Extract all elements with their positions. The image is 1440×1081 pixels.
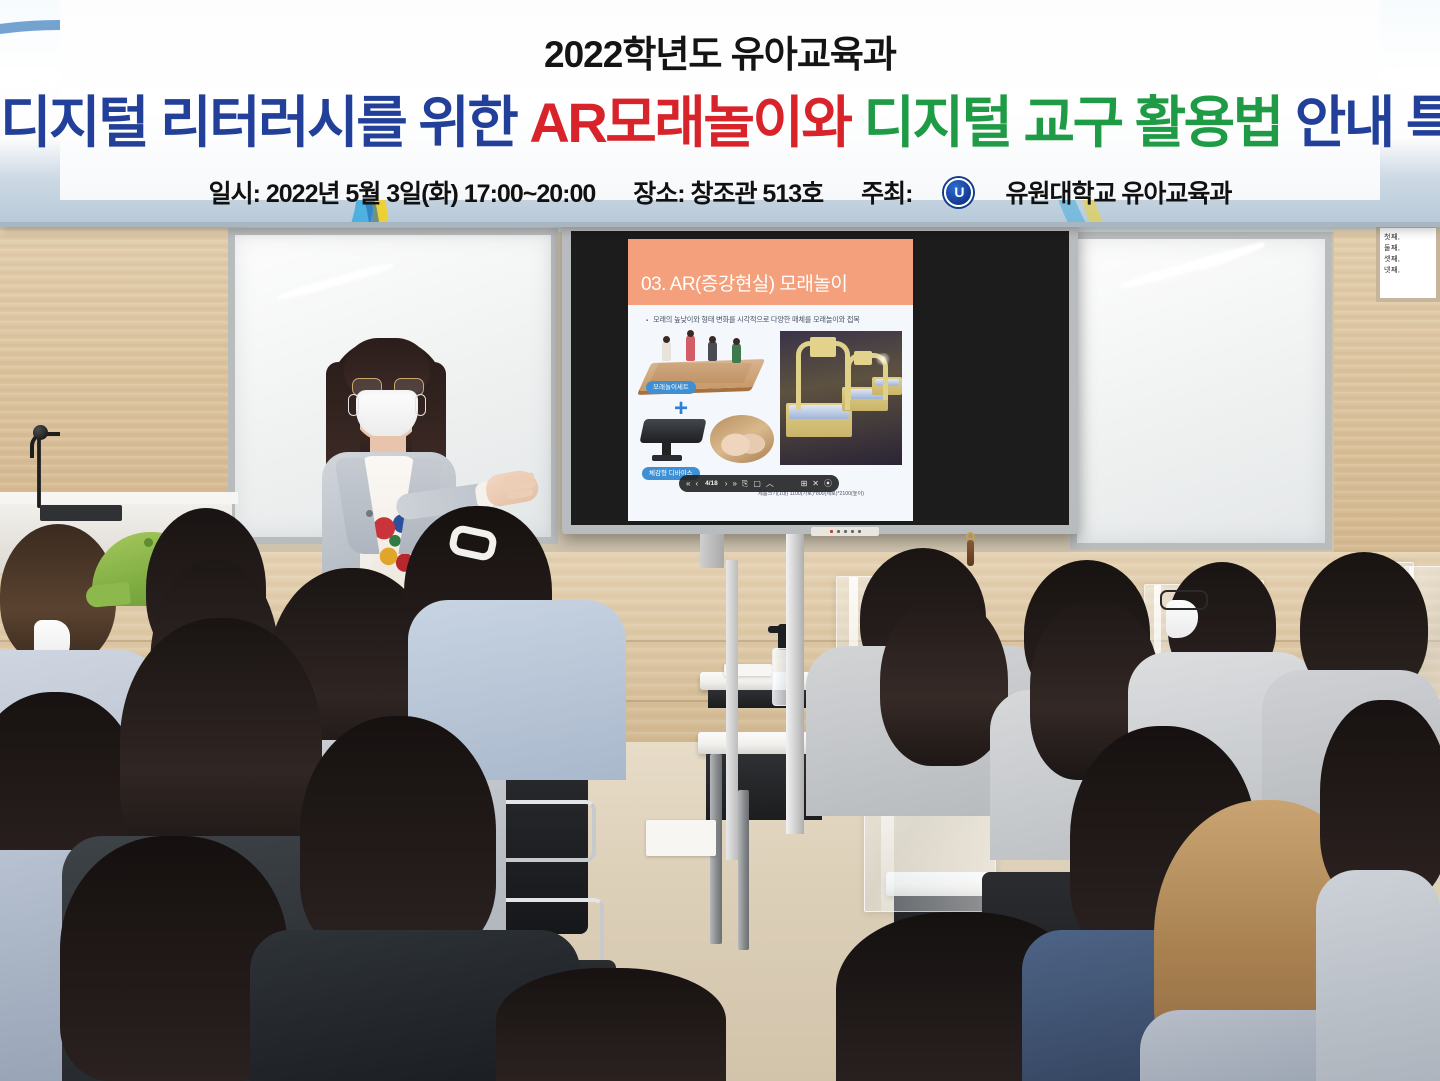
cap-button [144,538,153,547]
room-pole [726,560,738,860]
slide-title: 03. AR(증강현실) 모래놀이 [641,269,847,296]
banner-title-blue-1: 디지털 리터러시를 위한 [0,91,529,154]
lecture-hall-photo: 첫째, 둘째, 셋째, 넷째, 03. AR(증강현실) 모래놀이 모래의 높낮… [0,0,1440,1081]
poster-line: 둘째, [1384,244,1432,255]
motion-device-illustration [639,419,706,443]
blazer-button [366,510,373,517]
plus-icon: + [674,397,688,421]
first-page-icon[interactable]: « [686,480,690,488]
wall-poster: 첫째, 둘째, 셋째, 넷째, [1376,224,1440,302]
grid-view-icon[interactable]: ⊞ [801,480,808,488]
slide-navigation-toolbar[interactable]: « ‹ 4/18 › » ⎘ ▢ ︿ ⊞ ✕ ⦿ [679,475,839,492]
slide-bullet-text: 모래의 높낮이와 형태 변화를 시각적으로 다양한 매체를 모래놀이와 접목 [646,315,905,325]
ar-sandbox-room-photo [780,331,902,465]
poster-line: 첫째, [1384,233,1432,244]
display-mount [700,534,724,568]
settings-dot-icon[interactable]: ⦿ [824,480,832,488]
poster-line: 넷째, [1384,266,1432,277]
last-page-icon[interactable]: » [732,480,736,488]
copy-icon[interactable]: ⎘ [742,480,748,488]
presenter-hand [484,468,541,509]
banner-info-line: 일시: 2022년 5월 3일(화) 17:00~20:00 장소: 창조관 5… [0,174,1440,210]
university-logo-icon [944,178,973,207]
prev-page-icon[interactable]: ‹ [695,480,698,488]
frame-icon[interactable]: ▢ [753,480,761,488]
whiteboard-right [1070,232,1332,550]
desk-underside [706,754,822,820]
banner-title-green: 디지털 교구 활용법 [850,91,1281,154]
banner-title-blue-2: 안내 특강 [1282,91,1440,154]
banner-title: 디지털 리터러시를 위한 AR모래놀이와 디지털 교구 활용법 안내 특강 [0,78,1440,159]
audience-hair [880,596,1008,766]
poster-line: 셋째, [1384,255,1432,266]
slide-label-sandplay: 모래놀이세트 [646,381,696,394]
audience-head [300,716,496,956]
presentation-slide: 03. AR(증강현실) 모래놀이 모래의 높낮이와 형태 변화를 시각적으로 … [628,239,913,521]
glasses-icon [1160,590,1208,610]
desk-leg [738,790,749,950]
cap-brim [85,582,131,608]
close-icon[interactable]: ✕ [812,480,819,488]
wall-display[interactable]: 03. AR(증강현실) 모래놀이 모래의 높낮이와 형태 변화를 시각적으로 … [562,222,1078,534]
banner-host-label: 주최: [861,180,912,208]
white-box [646,820,716,856]
device-foot [652,455,682,461]
banner-subtitle: 2022학년도 유아교육과 [0,24,1440,78]
banner-host: 유원대학교 유아교육과 [1005,180,1231,208]
hanging-tassel [967,540,974,566]
caret-up-icon[interactable]: ︿ [766,480,774,488]
audience-shoulders [1316,870,1440,1081]
next-page-icon[interactable]: › [725,480,728,488]
audience-head [496,968,726,1081]
room-pole [786,534,804,834]
hands-in-sand-photo [710,415,774,463]
page-indicator: 4/18 [703,480,720,487]
face-mask [356,390,418,438]
event-banner: 2022학년도 유아교육과 디지털 리터러시를 위한 AR모래놀이와 디지털 교… [0,0,1440,227]
podium-tray [40,505,122,521]
podium-surface [0,492,238,504]
microphone-icon [33,425,48,440]
display-control-panel[interactable] [811,527,879,536]
banner-title-red: AR모래놀이와 [529,91,850,154]
banner-place: 장소: 창조관 513호 [633,180,823,208]
banner-date: 일시: 2022년 5월 3일(화) 17:00~20:00 [209,180,596,208]
